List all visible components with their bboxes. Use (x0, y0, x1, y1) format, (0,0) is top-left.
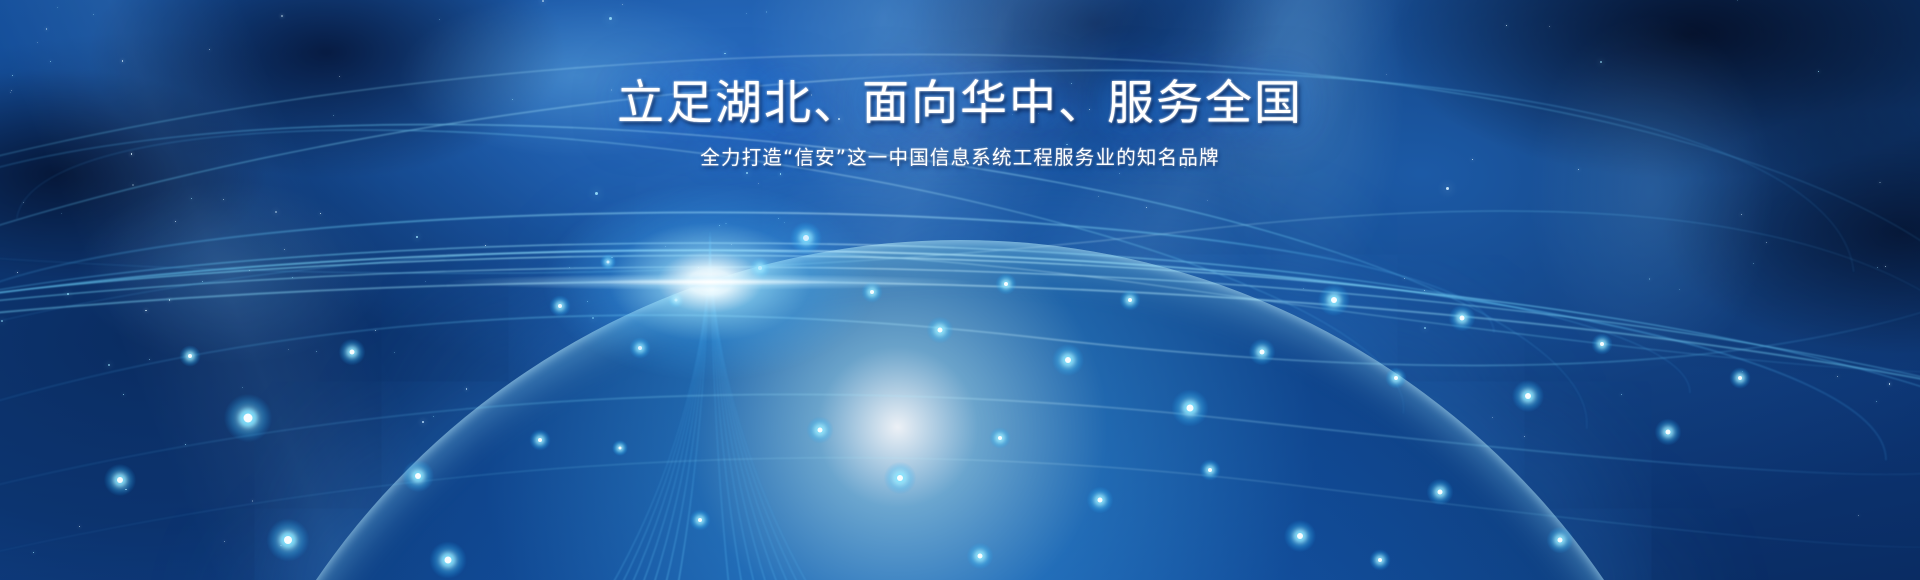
hero-banner: 立足湖北、面向华中、服务全国 全力打造“信安”这一中国信息系统工程服务业的知名品… (0, 0, 1920, 580)
banner-copy: 立足湖北、面向华中、服务全国 全力打造“信安”这一中国信息系统工程服务业的知名品… (0, 78, 1920, 169)
page-title: 立足湖北、面向华中、服务全国 (0, 78, 1920, 130)
page-subtitle: 全力打造“信安”这一中国信息系统工程服务业的知名品牌 (0, 146, 1920, 169)
